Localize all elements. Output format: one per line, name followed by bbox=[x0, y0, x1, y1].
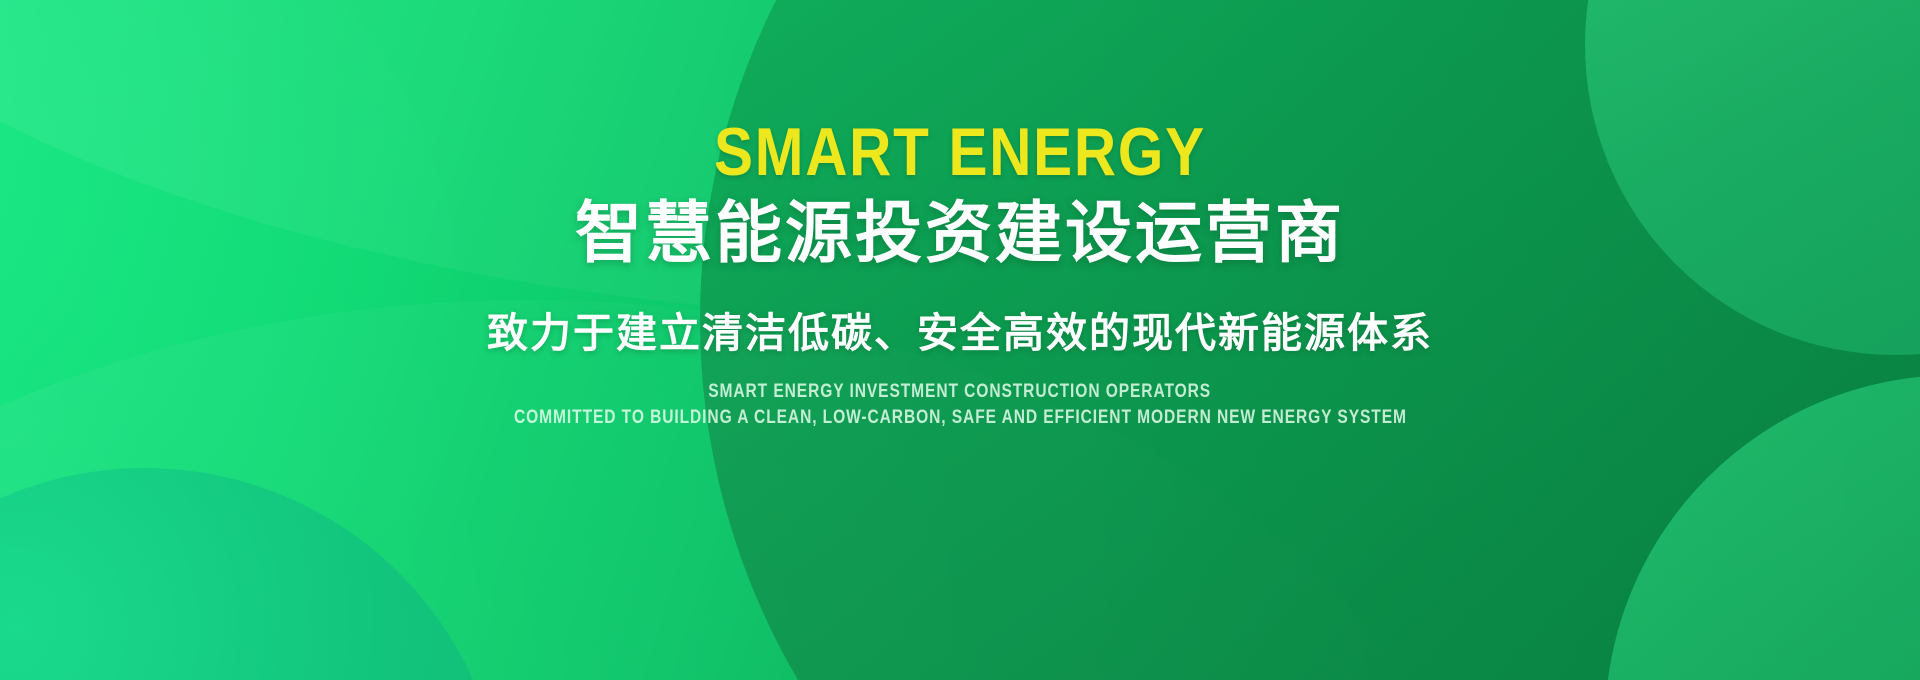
tagline-line-2: COMMITTED TO BUILDING A CLEAN, LOW-CARBO… bbox=[514, 408, 1407, 427]
hero-banner: SMART ENERGY 智慧能源投资建设运营商 致力于建立清洁低碳、安全高效的… bbox=[0, 0, 1920, 680]
tagline-line-1: SMART ENERGY INVESTMENT CONSTRUCTION OPE… bbox=[709, 382, 1212, 401]
tagline-group: SMART ENERGY INVESTMENT CONSTRUCTION OPE… bbox=[416, 382, 1505, 427]
headline-english: SMART ENERGY bbox=[714, 118, 1206, 186]
headline-chinese: 智慧能源投资建设运营商 bbox=[575, 198, 1345, 269]
subheadline-chinese: 致力于建立清洁低碳、安全高效的现代新能源体系 bbox=[487, 311, 1433, 356]
banner-content: SMART ENERGY 智慧能源投资建设运营商 致力于建立清洁低碳、安全高效的… bbox=[0, 0, 1920, 680]
